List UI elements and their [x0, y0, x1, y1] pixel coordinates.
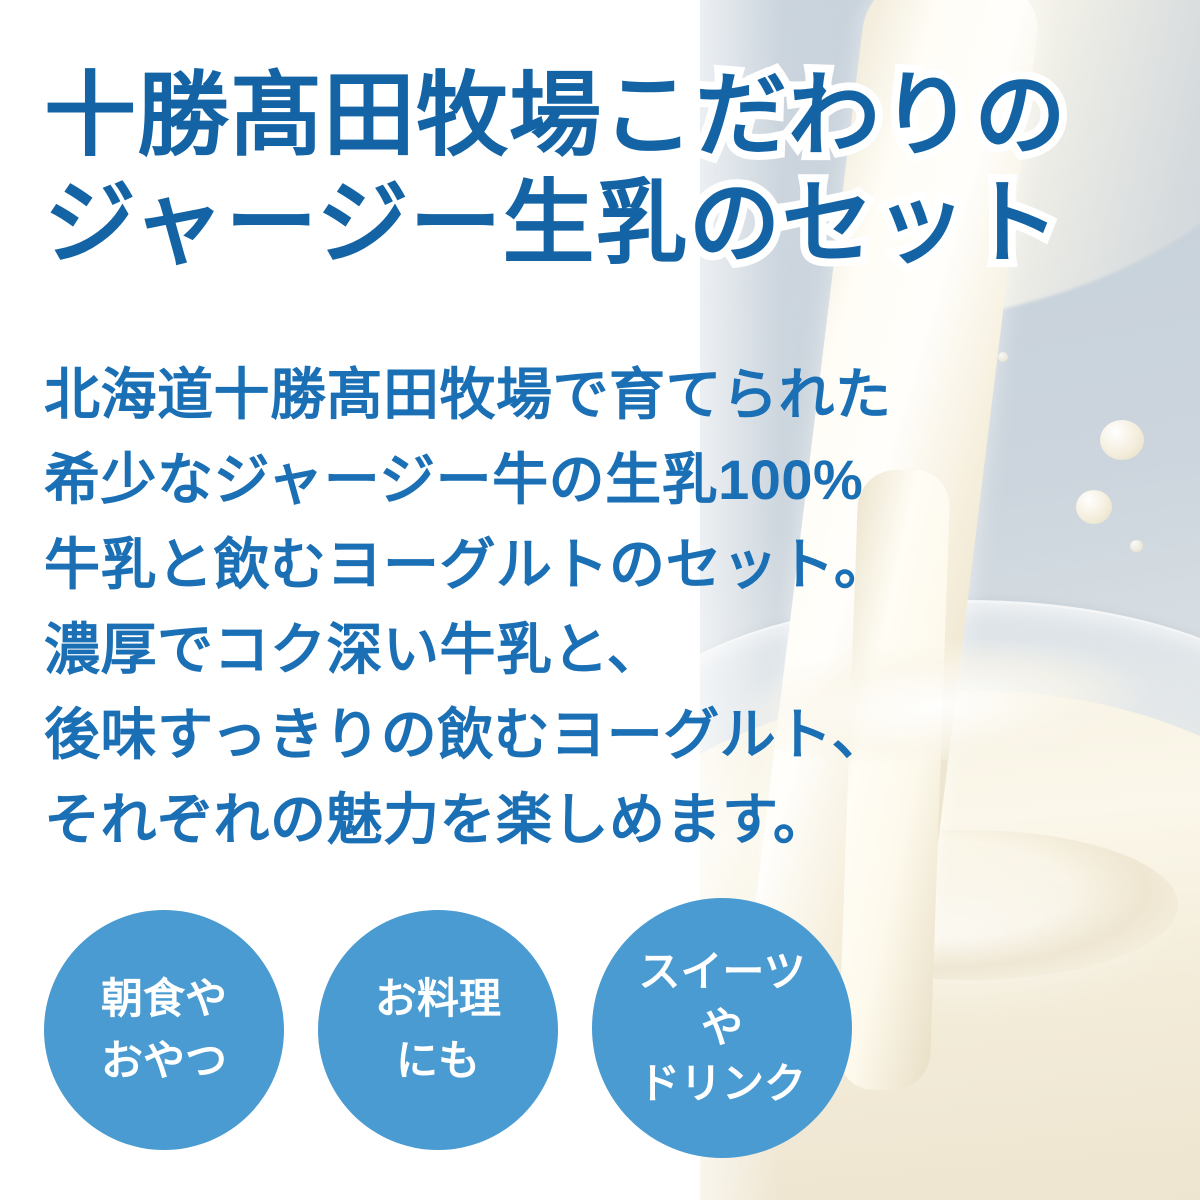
- badge-sweets-drinks: スイーツ や ドリンク: [592, 898, 852, 1158]
- body-line-1: 北海道十勝髙田牧場で育てられた: [44, 352, 1144, 437]
- body-line-6: それぞれの魅力を楽しめます。: [44, 777, 1144, 862]
- product-banner: 十勝髙田牧場こだわりの ジャージー生乳のセット 北海道十勝髙田牧場で育てられた …: [0, 0, 1200, 1200]
- body-line-5: 後味すっきりの飲むヨーグルト、: [44, 692, 1144, 777]
- page-title: 十勝髙田牧場こだわりの ジャージー生乳のセット: [44, 62, 1164, 278]
- badge-3-line-2: や: [701, 1000, 743, 1056]
- content-layer: 十勝髙田牧場こだわりの ジャージー生乳のセット 北海道十勝髙田牧場で育てられた …: [0, 0, 1200, 1200]
- usage-badges: 朝食や おやつ お料理 にも スイーツ や ドリンク: [44, 898, 944, 1188]
- description-text: 北海道十勝髙田牧場で育てられた 希少なジャージー牛の生乳100% 牛乳と飲むヨー…: [44, 352, 1144, 862]
- badge-3-line-3: ドリンク: [638, 1056, 806, 1112]
- badge-cooking: お料理 にも: [318, 910, 558, 1150]
- badge-breakfast-snack: 朝食や おやつ: [44, 910, 284, 1150]
- badge-2-line-1: お料理: [375, 968, 501, 1030]
- headline-line-1: 十勝髙田牧場こだわりの: [44, 62, 1164, 170]
- headline-line-2: ジャージー生乳のセット: [44, 170, 1164, 278]
- badge-1-line-2: おやつ: [101, 1030, 227, 1092]
- badge-3-line-1: スイーツ: [638, 944, 805, 1000]
- body-line-3: 牛乳と飲むヨーグルトのセット。: [44, 522, 1144, 607]
- body-line-2: 希少なジャージー牛の生乳100%: [44, 437, 1144, 522]
- badge-2-line-2: にも: [396, 1030, 480, 1092]
- badge-1-line-1: 朝食や: [101, 968, 227, 1030]
- body-line-4: 濃厚でコク深い牛乳と、: [44, 607, 1144, 692]
